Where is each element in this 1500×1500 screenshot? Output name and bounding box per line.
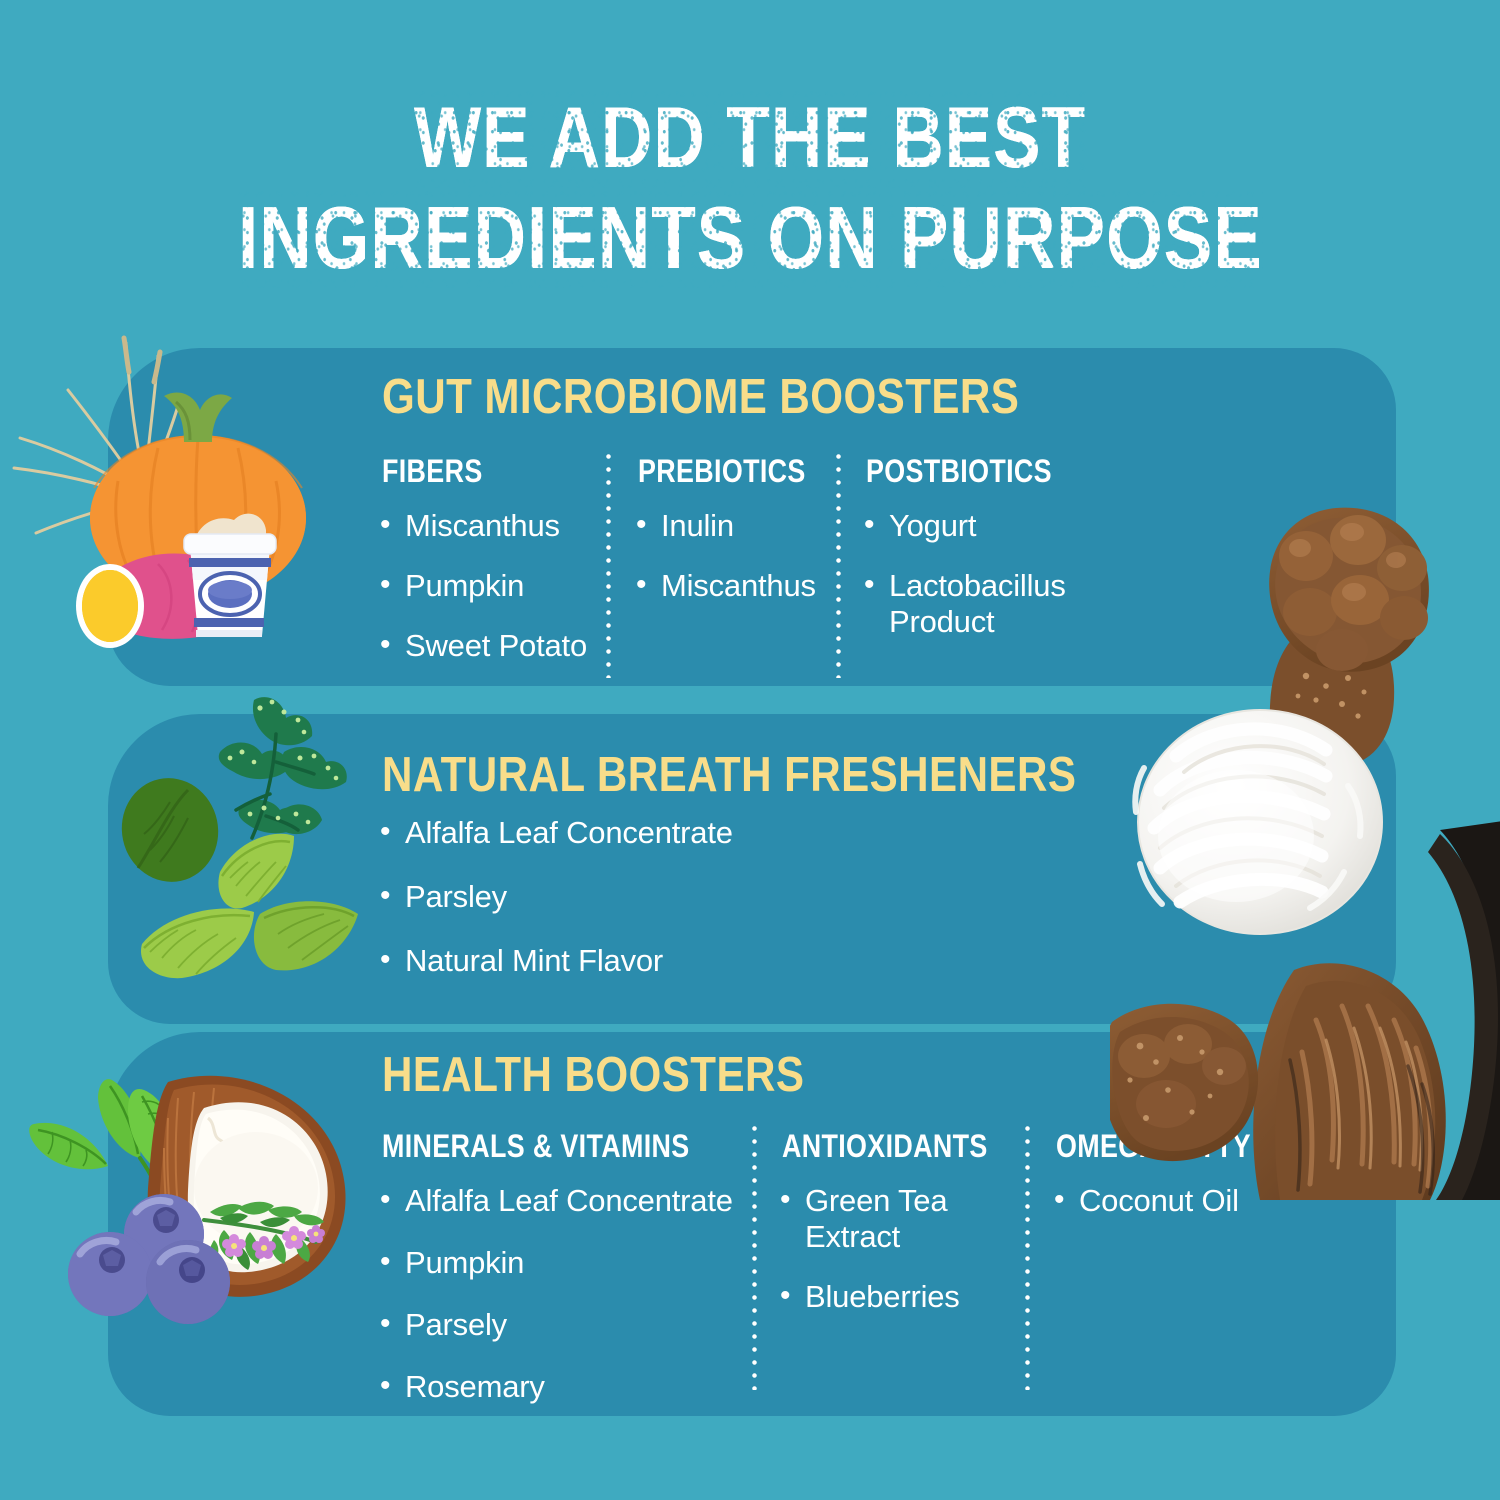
- column-header-postbiotics: POSTBIOTICS: [866, 453, 1052, 489]
- list-item: Alfalfa Leaf Concentrate: [380, 1183, 740, 1219]
- list-item: Green Tea Extract: [780, 1183, 995, 1255]
- list-antioxidants: Green Tea Extract Blueberries: [780, 1183, 995, 1339]
- column-header-antioxidants: ANTIOXIDANTS: [782, 1128, 988, 1164]
- page-title-line-2: INGREDIENTS ON PURPOSE: [238, 188, 1263, 288]
- list-item: Lactobacillus Product: [864, 568, 1079, 640]
- page-title-line-1: WE ADD THE BEST: [414, 88, 1086, 188]
- page-title: WE ADD THE BEST INGREDIENTS ON PURPOSE: [0, 88, 1500, 288]
- list-postbiotics: Yogurt Lactobacillus Product: [864, 508, 1079, 664]
- list-item: Inulin: [636, 508, 836, 544]
- list-prebiotics: Inulin Miscanthus: [636, 508, 836, 628]
- list-breath-fresheners: Alfalfa Leaf Concentrate Parsley Natural…: [380, 815, 900, 1003]
- list-item: Sweet Potato: [380, 628, 605, 664]
- infographic-root: WE ADD THE BEST INGREDIENTS ON PURPOSE G…: [0, 0, 1500, 1500]
- column-divider: [836, 450, 841, 678]
- column-header-minerals-vitamins: MINERALS & VITAMINS: [382, 1128, 690, 1164]
- list-item: Blueberries: [780, 1279, 995, 1315]
- list-item: Rosemary: [380, 1369, 740, 1405]
- list-fibers: Miscanthus Pumpkin Sweet Potato: [380, 508, 605, 688]
- list-item: Yogurt: [864, 508, 1079, 544]
- column-divider: [752, 1122, 757, 1390]
- list-item: Parsely: [380, 1307, 740, 1343]
- list-item: Pumpkin: [380, 1245, 740, 1281]
- list-item: Coconut Oil: [1054, 1183, 1354, 1219]
- list-item: Pumpkin: [380, 568, 605, 604]
- column-divider: [1025, 1122, 1030, 1390]
- list-item: Natural Mint Flavor: [380, 943, 900, 979]
- list-minerals-vitamins: Alfalfa Leaf Concentrate Pumpkin Parsely…: [380, 1183, 740, 1429]
- column-divider: [606, 450, 611, 678]
- list-item: Alfalfa Leaf Concentrate: [380, 815, 900, 851]
- column-header-omega-fatty-acids: OMEGA FATTY ACIDS: [1056, 1128, 1342, 1164]
- list-item: Parsley: [380, 879, 900, 915]
- card-heading-gut-microbiome-boosters: GUT MICROBIOME BOOSTERS: [382, 370, 1019, 424]
- list-item: Miscanthus: [380, 508, 605, 544]
- column-header-fibers: FIBERS: [382, 453, 483, 489]
- list-item: Miscanthus: [636, 568, 836, 604]
- card-heading-natural-breath-fresheners: NATURAL BREATH FRESHENERS: [382, 748, 1076, 802]
- card-heading-health-boosters: HEALTH BOOSTERS: [382, 1048, 804, 1102]
- column-header-prebiotics: PREBIOTICS: [638, 453, 806, 489]
- list-omega-fatty-acids: Coconut Oil: [1054, 1183, 1354, 1243]
